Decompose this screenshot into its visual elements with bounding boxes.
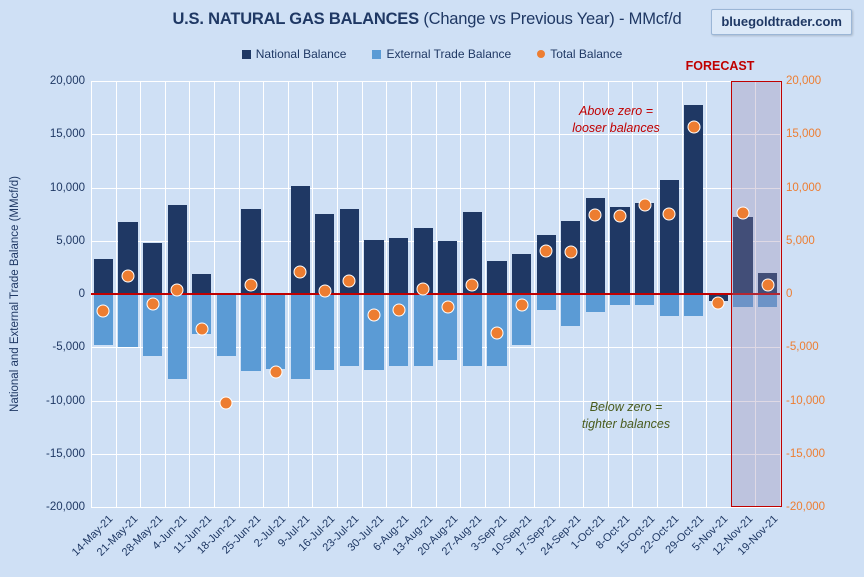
- marker-total-balance[interactable]: [737, 207, 750, 220]
- bar-national-balance[interactable]: [438, 241, 457, 294]
- marker-total-balance[interactable]: [294, 265, 307, 278]
- marker-total-balance[interactable]: [195, 323, 208, 336]
- marker-total-balance[interactable]: [121, 269, 134, 282]
- marker-total-balance[interactable]: [564, 246, 577, 259]
- y-axis-tick-left: -10,000: [25, 395, 85, 407]
- y-axis-tick-left: 20,000: [25, 75, 85, 87]
- bar-external-trade-balance[interactable]: [684, 294, 703, 316]
- y-axis-tick-right: 20,000: [786, 75, 848, 87]
- legend-label: Total Balance: [550, 47, 622, 61]
- marker-total-balance[interactable]: [417, 282, 430, 295]
- y-axis-tick-right: 10,000: [786, 182, 848, 194]
- legend-square-icon: [242, 50, 251, 59]
- bar-external-trade-balance[interactable]: [340, 294, 359, 366]
- bar-national-balance[interactable]: [364, 240, 383, 294]
- bar-external-trade-balance[interactable]: [266, 294, 285, 369]
- marker-total-balance[interactable]: [712, 296, 725, 309]
- brand-badge[interactable]: bluegoldtrader.com: [711, 9, 852, 35]
- marker-total-balance[interactable]: [441, 300, 454, 313]
- bar-national-balance[interactable]: [733, 217, 752, 294]
- marker-total-balance[interactable]: [146, 297, 159, 310]
- bar-external-trade-balance[interactable]: [315, 294, 334, 370]
- bar-external-trade-balance[interactable]: [414, 294, 433, 366]
- bar-external-trade-balance[interactable]: [118, 294, 137, 347]
- bar-external-trade-balance[interactable]: [364, 294, 383, 370]
- marker-total-balance[interactable]: [663, 208, 676, 221]
- marker-total-balance[interactable]: [515, 298, 528, 311]
- bar-external-trade-balance[interactable]: [463, 294, 482, 366]
- zero-line: [91, 293, 780, 295]
- bar-national-balance[interactable]: [389, 238, 408, 294]
- marker-total-balance[interactable]: [343, 275, 356, 288]
- marker-total-balance[interactable]: [761, 279, 774, 292]
- marker-total-balance[interactable]: [269, 365, 282, 378]
- y-axis-tick-left: -15,000: [25, 448, 85, 460]
- y-axis-tick-right: 0: [786, 288, 848, 300]
- gridline-horizontal: [91, 507, 780, 508]
- bar-external-trade-balance[interactable]: [758, 294, 777, 307]
- bar-external-trade-balance[interactable]: [217, 294, 236, 356]
- marker-total-balance[interactable]: [491, 327, 504, 340]
- annotation-above-zero: Above zero = looser balances: [531, 103, 701, 137]
- y-axis-tick-right: 15,000: [786, 128, 848, 140]
- bar-national-balance[interactable]: [315, 214, 334, 294]
- marker-total-balance[interactable]: [97, 305, 110, 318]
- forecast-label: FORECAST: [660, 59, 780, 73]
- chart-title-light: (Change vs Previous Year) - MMcf/d: [423, 10, 681, 28]
- bar-external-trade-balance[interactable]: [241, 294, 260, 371]
- bar-national-balance[interactable]: [635, 203, 654, 294]
- legend-item-2[interactable]: Total Balance: [537, 47, 622, 61]
- gridline-vertical: [780, 81, 781, 507]
- bar-national-balance[interactable]: [192, 274, 211, 294]
- bar-national-balance[interactable]: [660, 180, 679, 294]
- y-axis-tick-left: -5,000: [25, 341, 85, 353]
- chart-title-bold: U.S. NATURAL GAS BALANCES: [172, 10, 423, 28]
- bar-external-trade-balance[interactable]: [586, 294, 605, 312]
- annotation-below-zero: Below zero = tighter balances: [541, 399, 711, 433]
- y-axis-tick-left: 10,000: [25, 182, 85, 194]
- marker-total-balance[interactable]: [318, 284, 331, 297]
- y-axis-tick-right: -5,000: [786, 341, 848, 353]
- bar-national-balance[interactable]: [487, 261, 506, 294]
- bar-external-trade-balance[interactable]: [537, 294, 556, 310]
- y-axis-tick-left: 0: [25, 288, 85, 300]
- plot-area: 20,00020,00015,00015,00010,00010,0005,00…: [91, 81, 780, 507]
- bar-national-balance[interactable]: [168, 205, 187, 294]
- chart-page: U.S. NATURAL GAS BALANCES (Change vs Pre…: [0, 0, 864, 577]
- bar-external-trade-balance[interactable]: [610, 294, 629, 305]
- y-axis-tick-left: -20,000: [25, 501, 85, 513]
- legend-square-icon: [372, 50, 381, 59]
- bar-external-trade-balance[interactable]: [660, 294, 679, 316]
- marker-total-balance[interactable]: [220, 396, 233, 409]
- legend-label: National Balance: [256, 47, 347, 61]
- marker-total-balance[interactable]: [614, 210, 627, 223]
- marker-total-balance[interactable]: [466, 279, 479, 292]
- marker-total-balance[interactable]: [367, 309, 380, 322]
- bar-national-balance[interactable]: [512, 254, 531, 294]
- y-axis-tick-left: 5,000: [25, 235, 85, 247]
- bar-national-balance[interactable]: [118, 222, 137, 294]
- legend-item-1[interactable]: External Trade Balance: [372, 47, 511, 61]
- marker-total-balance[interactable]: [540, 245, 553, 258]
- y-axis-tick-right: -20,000: [786, 501, 848, 513]
- y-axis-tick-right: -10,000: [786, 395, 848, 407]
- marker-total-balance[interactable]: [392, 303, 405, 316]
- bar-external-trade-balance[interactable]: [561, 294, 580, 326]
- marker-total-balance[interactable]: [171, 283, 184, 296]
- marker-total-balance[interactable]: [638, 198, 651, 211]
- legend-dot-icon: [537, 50, 545, 58]
- y-axis-tick-left: 15,000: [25, 128, 85, 140]
- marker-total-balance[interactable]: [244, 279, 257, 292]
- bar-national-balance[interactable]: [94, 259, 113, 294]
- y-axis-tick-right: -15,000: [786, 448, 848, 460]
- bar-external-trade-balance[interactable]: [94, 294, 113, 345]
- legend-item-0[interactable]: National Balance: [242, 47, 347, 61]
- bar-external-trade-balance[interactable]: [733, 294, 752, 307]
- bar-external-trade-balance[interactable]: [291, 294, 310, 379]
- bar-national-balance[interactable]: [143, 243, 162, 294]
- legend-label: External Trade Balance: [386, 47, 511, 61]
- y-axis-label-left: National and External Trade Balance (MMc…: [9, 81, 29, 507]
- y-axis-tick-right: 5,000: [786, 235, 848, 247]
- marker-total-balance[interactable]: [589, 209, 602, 222]
- bar-external-trade-balance[interactable]: [635, 294, 654, 305]
- bar-external-trade-balance[interactable]: [168, 294, 187, 379]
